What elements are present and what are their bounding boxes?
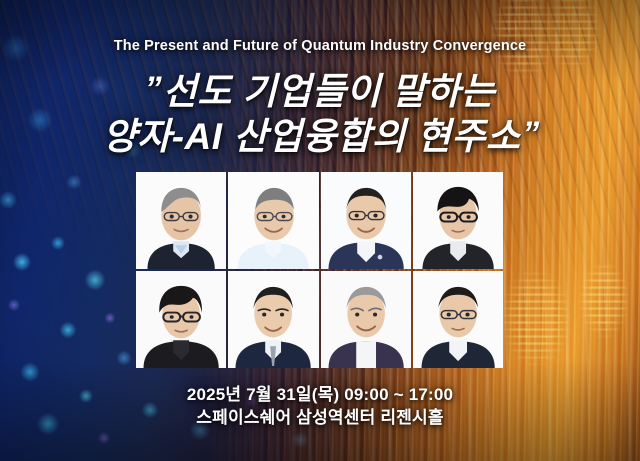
- title-line-1-text: 선도 기업들이 말하는: [163, 71, 495, 112]
- title-line-2: 양자-AI 산업융합의 현주소”: [0, 115, 640, 160]
- portrait-icon: [136, 271, 226, 368]
- event-details: 2025년 7월 31일(목) 09:00 ~ 17:00 스페이스쉐어 삼성역…: [0, 384, 640, 429]
- speaker-photo-grid: [136, 172, 503, 368]
- speaker-photo-7: [321, 271, 411, 368]
- portrait-icon: [136, 172, 226, 269]
- english-subtitle: The Present and Future of Quantum Indust…: [0, 38, 640, 54]
- portrait-icon: [228, 172, 318, 269]
- portrait-icon: [321, 172, 411, 269]
- portrait-icon: [413, 271, 503, 368]
- event-venue: 스페이스쉐어 삼성역센터 리젠시홀: [0, 406, 640, 429]
- close-quote-mark: ”: [522, 113, 537, 156]
- event-date-time: 2025년 7월 31일(목) 09:00 ~ 17:00: [0, 384, 640, 406]
- portrait-icon: [321, 271, 411, 368]
- speaker-photo-8: [413, 271, 503, 368]
- speaker-photo-2: [228, 172, 318, 269]
- speaker-photo-1: [136, 172, 226, 269]
- speaker-photo-3: [321, 172, 411, 269]
- portrait-icon: [413, 172, 503, 269]
- portrait-icon: [228, 271, 318, 368]
- speaker-photo-4: [413, 172, 503, 269]
- title-line-1: ”선도 기업들이 말하는: [0, 70, 640, 115]
- open-quote-mark: ”: [145, 68, 160, 111]
- title-line-2-text: 양자-AI 산업융합의 현주소: [103, 116, 521, 157]
- event-poster: The Present and Future of Quantum Indust…: [0, 0, 640, 461]
- poster-title: ”선도 기업들이 말하는 양자-AI 산업융합의 현주소”: [0, 70, 640, 160]
- speaker-photo-5: [136, 271, 226, 368]
- speaker-photo-6: [228, 271, 318, 368]
